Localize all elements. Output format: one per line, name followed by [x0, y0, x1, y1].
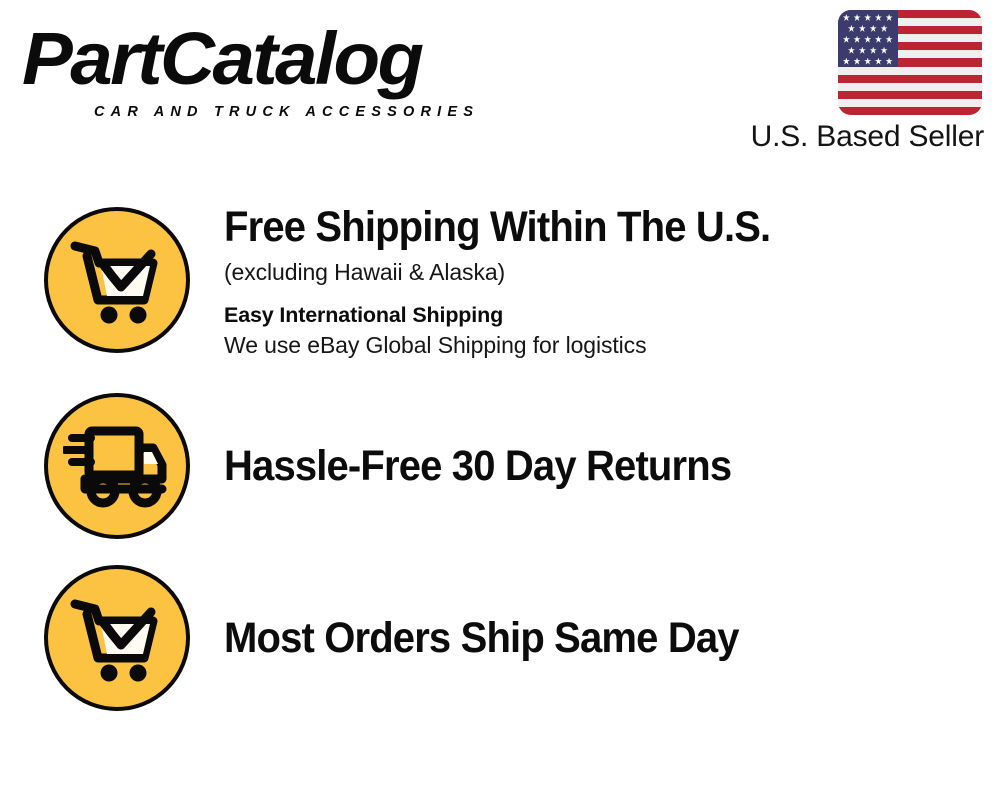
flag-star-row [838, 36, 898, 43]
us-based-seller-badge: U.S. Based Seller [714, 8, 984, 158]
brand-logo[interactable]: PartCatalog CAR AND TRUCK ACCESSORIES [22, 20, 492, 120]
feature-row: Free Shipping Within The U.S. (excluding… [0, 180, 1000, 380]
seller-label: U.S. Based Seller [751, 120, 984, 154]
feature-row: Most Orders Ship Same Day [0, 552, 1000, 724]
delivery-truck-icon [44, 393, 190, 539]
feature-text: Free Shipping Within The U.S. (excluding… [224, 202, 1000, 361]
feature-text: Hassle-Free 30 Day Returns [224, 441, 1000, 491]
shopping-cart-check-icon [44, 207, 190, 353]
feature-heading: Hassle-Free 30 Day Returns [224, 441, 927, 491]
page-header: PartCatalog CAR AND TRUCK ACCESSORIES [0, 0, 1000, 170]
feature-heading: Free Shipping Within The U.S. [224, 202, 927, 252]
flag-star-row [838, 14, 898, 21]
flag-canton [838, 10, 898, 67]
feature-subtext: (excluding Hawaii & Alaska) [224, 256, 980, 288]
flag-star-row [838, 25, 898, 32]
flag-star-row [838, 47, 898, 54]
feature-row: Hassle-Free 30 Day Returns [0, 380, 1000, 552]
flag-star-row [838, 58, 898, 65]
us-flag-icon [838, 10, 982, 115]
feature-heading: Most Orders Ship Same Day [224, 613, 927, 663]
brand-tagline: CAR AND TRUCK ACCESSORIES [94, 104, 479, 120]
feature-subtext-strong: Easy International Shipping [224, 300, 980, 330]
brand-wordmark: PartCatalog [22, 20, 421, 98]
feature-subtext-secondary: We use eBay Global Shipping for logistic… [224, 330, 980, 361]
feature-list: Free Shipping Within The U.S. (excluding… [0, 180, 1000, 724]
feature-text: Most Orders Ship Same Day [224, 613, 1000, 663]
shopping-cart-check-icon [44, 565, 190, 711]
